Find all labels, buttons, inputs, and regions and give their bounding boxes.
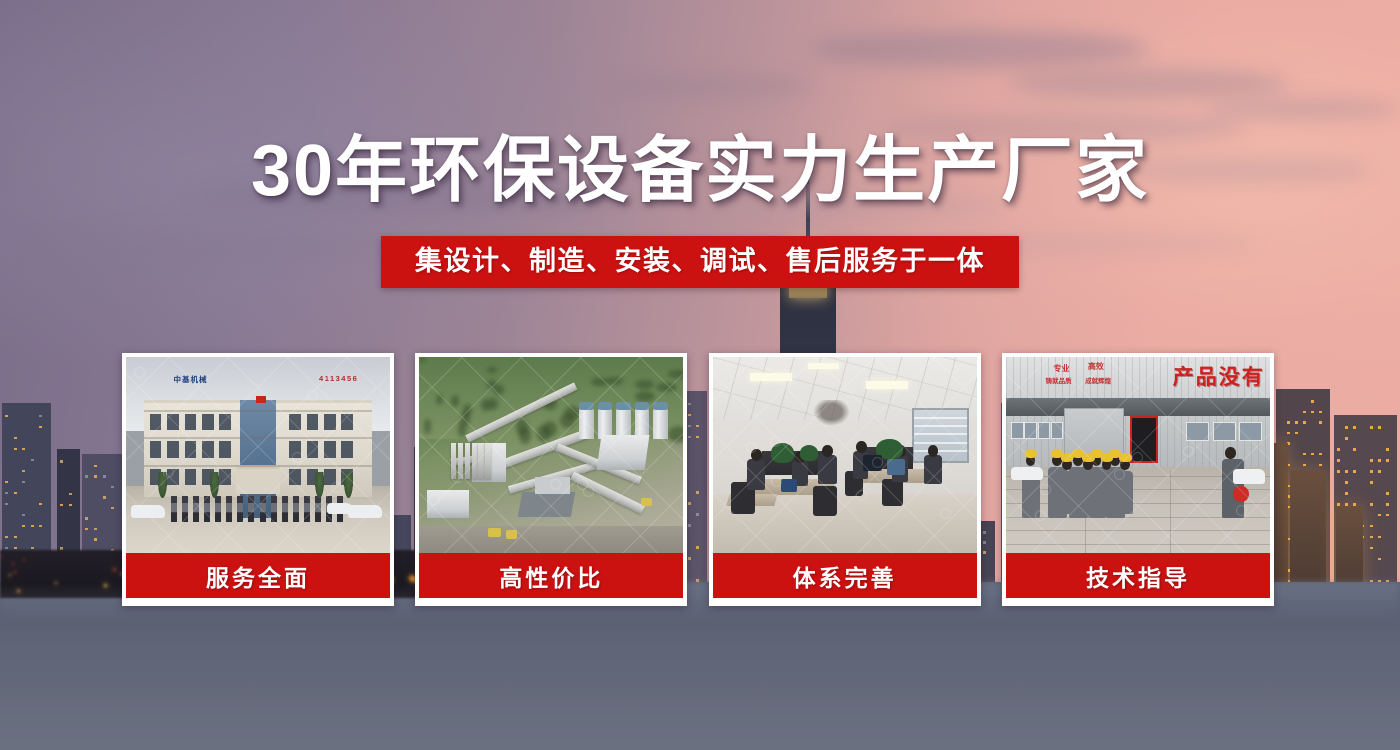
feature-card[interactable]: 高性价比 [415,353,687,606]
building-window-light [1345,437,1348,440]
building-window-light [14,448,17,451]
building-window-light [1303,453,1306,456]
photo-ground-seam [1006,530,1270,531]
feature-card[interactable]: 中基机械 4113456 服务全面 [122,353,394,606]
photo-building-window [167,441,179,458]
card-caption-text: 体系完善 [793,559,897,593]
photo-staff-person [282,496,288,522]
photo-tree-cluster [635,391,655,402]
photo-building-window [185,441,197,458]
photo-stack [451,443,456,478]
cloud-wisp [1008,68,1288,99]
photo-building-window [289,469,301,486]
building-window-light [1287,421,1290,424]
building-window-light [1386,448,1389,451]
building-window-light [31,459,34,462]
building-window-light [14,536,17,539]
photo-hardhat [1082,453,1094,462]
photo-tree-cluster [656,383,677,392]
photo-person [747,459,765,490]
photo-tree-cluster [424,419,430,435]
building-window-light [1337,448,1340,451]
building-window-light [69,504,72,507]
building-window-light [1386,503,1389,506]
photo-staff-person [182,496,188,522]
photo-staff-person [226,496,232,522]
card-caption: 服务全面 [126,553,390,598]
photo-stack [465,443,470,478]
photo-tree-cluster [668,370,683,377]
photo-car [1233,469,1265,485]
photo-tree [210,472,219,498]
photo-plant-roof [535,477,569,495]
card-caption-text: 服务全面 [206,559,310,593]
building-window-light [39,525,42,528]
photo-machinery [506,530,517,539]
photo-building-window [167,414,179,431]
photo-building-floor-line [144,465,371,467]
building-window-light [1295,421,1298,424]
photo-stack [478,443,483,478]
photo-slogan-text: 成就辉煌 [1085,375,1111,385]
card-caption: 高性价比 [419,553,683,598]
photo-plant [771,443,795,463]
photo-stack [458,443,463,478]
photo-hardhat [1119,453,1131,462]
photo-tree-cluster [591,378,608,387]
photo-ground-seam [1006,544,1270,545]
feature-card-list: 中基机械 4113456 服务全面 高性价比 [122,353,1274,606]
building-window-light [1386,514,1389,517]
photo-building-window [150,441,162,458]
building-window-light [60,504,63,507]
building-window-light [111,486,114,489]
card-photo-factory-training: 产品没有 专业 高效 铸就品质 成就辉煌 [1006,357,1270,553]
photo-staff-person [204,496,210,522]
photo-worker [1098,471,1114,514]
photo-building-floor-line [144,437,371,439]
building-window-light [1378,459,1381,462]
building-window-light [1370,426,1373,429]
building-window-light [85,528,88,531]
building-window-light [1353,426,1356,429]
card-photo-office-building: 中基机械 4113456 [126,357,390,553]
building-window-light [103,475,106,478]
photo-window [912,408,969,463]
building-window-light [5,547,8,550]
photo-trainer-head [1225,447,1236,459]
building-window-light [39,503,42,506]
building-window-light [1370,525,1373,528]
cloud-wisp [616,75,812,98]
building-window-light [1386,459,1389,462]
photo-car [327,503,353,514]
photo-tree-cluster [487,367,497,374]
photo-building-window [341,414,353,431]
photo-factory-window [1024,422,1037,440]
building-window-light [85,475,88,478]
building-window-light [1370,503,1373,506]
photo-building-phone-text: 4113456 [319,374,358,383]
photo-ceiling-light [808,363,840,369]
building-window-light [14,492,17,495]
promo-banner: 30年环保设备实力生产厂家 集设计、制造、安装、调试、售后服务于一体 中基机械 … [0,0,1400,750]
photo-factory-window [1213,422,1236,442]
building-window-light [14,437,17,440]
building-window-light [5,536,8,539]
photo-plant-yard [419,526,683,553]
photo-slogan-text: 铸就品质 [1046,375,1072,385]
photo-tree-cluster [488,398,498,410]
river-water [0,582,1400,750]
card-photo-industrial-plant [419,357,683,553]
building-window-light [1311,411,1314,414]
shoreline-light [55,582,58,584]
photo-machinery [488,528,501,538]
building-window-light [111,507,114,510]
building-window-light [69,493,72,496]
photo-building-window [324,414,336,431]
photo-plant-building [596,435,648,470]
card-caption: 技术指导 [1006,553,1270,598]
photo-staff-person [215,496,221,522]
building-window-light [1295,432,1298,435]
building-window-light [1370,459,1373,462]
photo-car [131,505,165,518]
building-window-light [22,470,25,473]
photo-ceiling-light [866,381,908,390]
photo-hardhat [1101,453,1113,462]
building-window-light [1378,514,1381,517]
subtitle-text: 集设计、制造、安装、调试、售后服务于一体 [415,245,985,277]
building-window-light [94,528,97,531]
card-caption-text: 高性价比 [499,559,603,593]
building-window-light [14,547,17,550]
photo-silo-top [598,402,613,410]
building-window-light [94,538,97,541]
photo-flag [256,396,266,403]
photo-building-window [307,414,319,431]
photo-silo-top [635,402,650,410]
photo-building-window [219,414,231,431]
building-window-light [22,481,25,484]
photo-building-window [185,414,197,431]
subtitle-bar: 集设计、制造、安装、调试、售后服务于一体 [381,236,1019,288]
photo-building-window [219,441,231,458]
photo-staff-person [237,496,243,522]
photo-wall-band [1006,398,1270,416]
building-window-light [1353,470,1356,473]
photo-building-window [324,441,336,458]
photo-hardhat [1061,453,1073,462]
photo-staff-person [315,496,321,522]
building-window-light [22,525,25,528]
building-window-light [94,475,97,478]
building-window-light [1353,448,1356,451]
photo-silo-top [653,402,668,410]
photo-worker [1117,471,1133,514]
card-photo-office-interior [713,357,977,553]
photo-factory-window [1051,422,1064,440]
photo-stack [472,443,477,478]
photo-car [1011,467,1043,481]
photo-worker [1080,471,1096,514]
building-window-light [1287,432,1290,435]
photo-monitor [863,455,881,471]
photo-worker [1059,471,1075,514]
photo-person [924,455,942,484]
feature-card[interactable]: 体系完善 [709,353,981,606]
photo-building-floor-line [144,410,371,412]
photo-building-window [202,441,214,458]
building-window-light [5,503,8,506]
photo-chair [882,479,903,506]
photo-building-window [202,414,214,431]
shoreline-light [17,590,19,592]
building-window-light [5,492,8,495]
photo-ceiling-light [750,373,792,381]
photo-tree-cluster [635,380,655,389]
photo-person-head [822,445,833,457]
photo-staff-person [193,496,199,522]
photo-silo [653,408,668,439]
building-window-light [22,514,25,517]
shoreline-light [0,556,2,558]
photo-tree [158,472,167,498]
building-window-light [39,426,42,429]
photo-tree [344,472,353,498]
photo-building-window [341,441,353,458]
photo-silo-top [616,402,631,410]
photo-plant-building [427,490,469,517]
building-window-light [1319,453,1322,456]
shoreline-light [23,559,25,561]
photo-factory-window [1239,422,1262,442]
building-window-light [1370,547,1373,550]
building-window-light [85,517,88,520]
photo-plant [800,445,818,461]
photo-staff-person [260,496,266,522]
photo-person-head [751,449,762,461]
photo-factory-sign-text: 产品没有 [1173,361,1265,391]
photo-staff-person [248,496,254,522]
photo-factory-window [1038,422,1051,440]
photo-building-sign-text: 中基机械 [174,374,208,385]
building-window-light [22,448,25,451]
building-window-light [1303,464,1306,467]
building-window-light [5,415,8,418]
shoreline-light [9,574,11,576]
shoreline-light [113,568,116,571]
photo-staff-person [271,496,277,522]
photo-factory-door [1130,416,1158,463]
building-window-light [1319,421,1322,424]
photo-tree-cluster [565,406,580,419]
cloud-wisp [1204,98,1400,121]
building-window-light [1311,400,1314,403]
photo-car [348,505,382,518]
building-window-light [1345,481,1348,484]
building-window-light [1345,470,1348,473]
photo-building-entrance [236,465,281,494]
building-window-light [60,460,63,463]
building-window-light [5,481,8,484]
photo-staff-person [293,496,299,522]
photo-plant-roof [517,492,574,517]
building-window-light [1303,411,1306,414]
building-window-light [31,547,34,550]
photo-building-window [167,469,179,486]
building-window-light [1337,459,1340,462]
photo-building-window [289,414,301,431]
photo-monitor [887,459,905,475]
photo-chair [813,486,837,515]
photo-red-hardhat [1233,486,1249,502]
building-window-light [1345,426,1348,429]
building-window-light [1370,481,1373,484]
photo-laptop [781,479,797,493]
building-window-light [1319,411,1322,414]
photo-factory-window [1011,422,1024,440]
building-window-light [39,415,42,418]
card-caption: 体系完善 [713,553,977,598]
photo-wall-logo [813,400,850,425]
building-window-light [31,525,34,528]
building-window-light [1319,464,1322,467]
photo-stack [485,443,490,478]
photo-building-window [150,414,162,431]
photo-staff-person [304,496,310,522]
building-window-light [1378,536,1381,539]
photo-slogan-text: 高效 [1088,361,1104,372]
building-window-light [1303,421,1306,424]
building-window-light [1378,426,1381,429]
photo-ground-seam [1170,471,1171,553]
photo-silo [579,408,594,439]
photo-building-window [289,441,301,458]
photo-machinery [641,498,652,506]
photo-building-window [185,469,197,486]
shoreline-light [12,563,14,565]
shoreline-light [104,584,107,587]
building-window-light [1370,470,1373,473]
building-window-light [1345,492,1348,495]
shoreline-light [14,571,16,573]
building-window-light [1370,536,1373,539]
photo-staff-person [171,496,177,522]
building-window-light [1337,470,1340,473]
photo-building-window [307,441,319,458]
building-window-light [1386,492,1389,495]
photo-factory-window [1186,422,1209,442]
building-window-light [1378,470,1381,473]
photo-person-head [856,441,867,453]
photo-building-window [324,469,336,486]
skyline-building-lit [1290,470,1326,598]
building-window-light [1311,453,1314,456]
photo-person [818,455,836,484]
photo-tree [315,472,324,498]
cloud-wisp [812,30,1148,68]
card-caption-text: 技术指导 [1086,559,1190,593]
photo-slogan-text: 专业 [1054,363,1070,374]
building-window-light [1378,558,1381,561]
feature-card[interactable]: 产品没有 专业 高效 铸就品质 成就辉煌 技术指导 [1002,353,1274,606]
page-title: 30年环保设备实力生产厂家 [0,133,1400,209]
building-window-light [103,496,106,499]
cloud-wisp [28,233,392,260]
photo-building-window [219,469,231,486]
building-window-light [94,465,97,468]
photo-silo-top [579,402,594,410]
photo-hardhat [1025,449,1037,458]
